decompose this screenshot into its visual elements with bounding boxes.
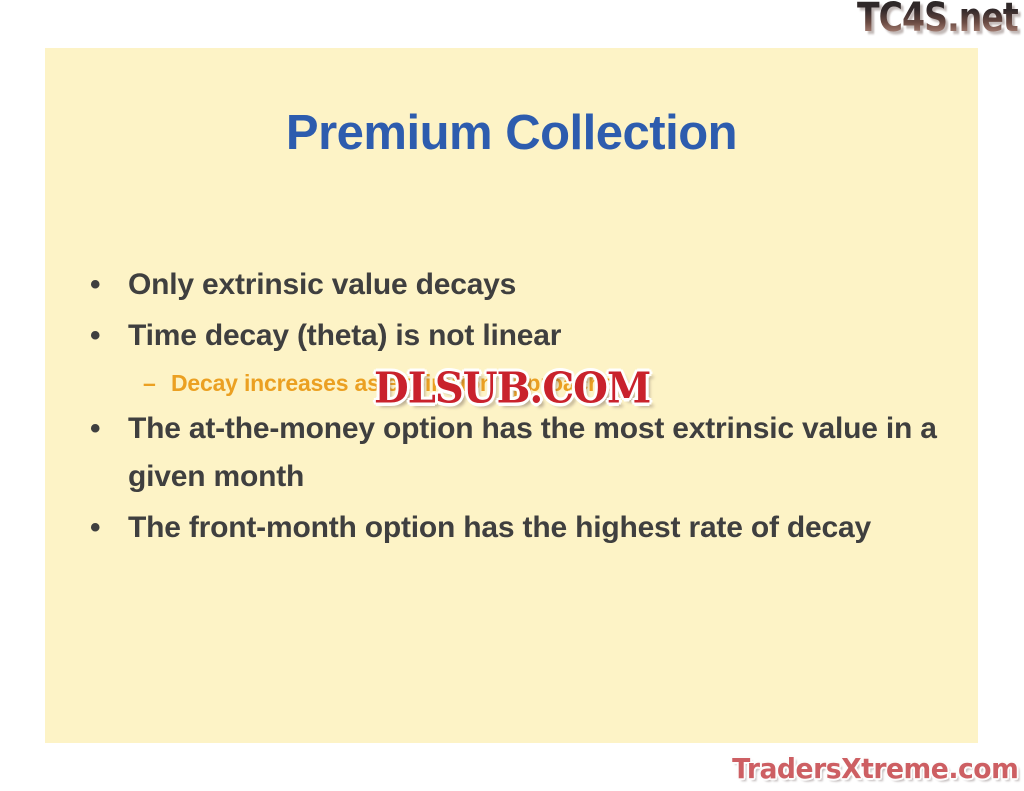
list-item: • Time decay (theta) is not linear xyxy=(90,312,950,360)
list-item: • Only extrinsic value decays xyxy=(90,261,950,309)
slide-canvas: Premium Collection • Only extrinsic valu… xyxy=(0,0,1024,791)
list-item: • The at-the-money option has the most e… xyxy=(90,405,950,501)
bullet-dot-icon: • xyxy=(90,312,128,360)
page-title: Premium Collection xyxy=(45,108,978,159)
list-item-label: Only extrinsic value decays xyxy=(128,261,950,309)
bullet-dot-icon: • xyxy=(90,405,128,453)
tradersxtreme-watermark: TradersXtreme.com xyxy=(732,755,1018,783)
tc4s-watermark: TC4S.net xyxy=(857,0,1018,38)
bullet-dash-icon: – xyxy=(143,363,171,403)
bullet-dot-icon: • xyxy=(90,261,128,309)
list-item-label: The at-the-money option has the most ext… xyxy=(128,405,950,501)
list-item-label: Time decay (theta) is not linear xyxy=(128,312,950,360)
dlsub-watermark: DLSUB.COM xyxy=(374,368,650,410)
bullet-dot-icon: • xyxy=(90,504,128,552)
list-item-label: The front-month option has the highest r… xyxy=(128,504,950,552)
list-item: • The front-month option has the highest… xyxy=(90,504,950,552)
